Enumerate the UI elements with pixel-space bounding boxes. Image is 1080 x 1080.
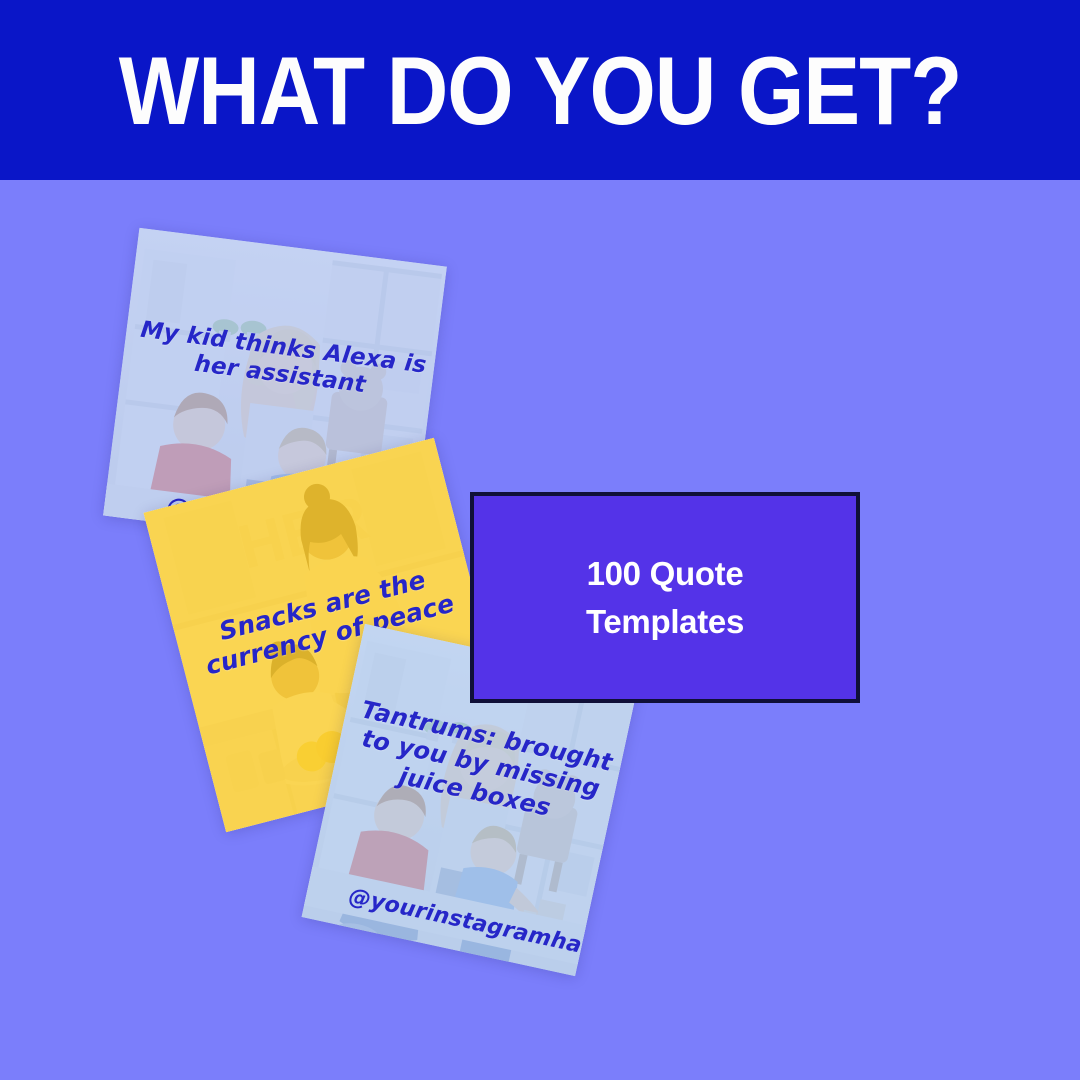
feature-callout-label: 100 Quote Templates bbox=[586, 550, 744, 646]
feature-callout-box[interactable]: 100 Quote Templates bbox=[470, 492, 860, 703]
page-title: WHAT DO YOU GET? bbox=[119, 44, 961, 141]
slide-canvas: WHAT DO YOU GET? bbox=[0, 0, 1080, 1080]
header-band: WHAT DO YOU GET? bbox=[0, 0, 1080, 180]
